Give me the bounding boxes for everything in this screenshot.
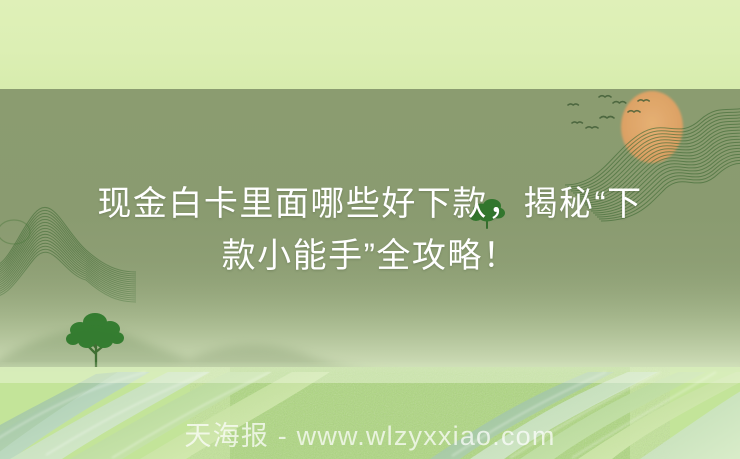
watermark-text: 天海报 - www.wlzyxxiao.com [0, 414, 740, 453]
terraced-fields [0, 372, 330, 459]
terrace-ridges [0, 372, 716, 458]
poster-canvas: 现金白卡里面哪些好下款，揭秘“下 款小能手”全攻略！ 天海报 - www.wlz… [0, 0, 740, 459]
title-line-2: 款小能手”全攻略！ [0, 230, 740, 282]
grass-texture [230, 367, 630, 459]
terraced-fields-right [430, 372, 740, 459]
poster-title: 现金白卡里面哪些好下款，揭秘“下 款小能手”全攻略！ [0, 178, 740, 282]
title-line-1: 现金白卡里面哪些好下款，揭秘“下 [0, 178, 740, 230]
sky-band [0, 0, 740, 90]
